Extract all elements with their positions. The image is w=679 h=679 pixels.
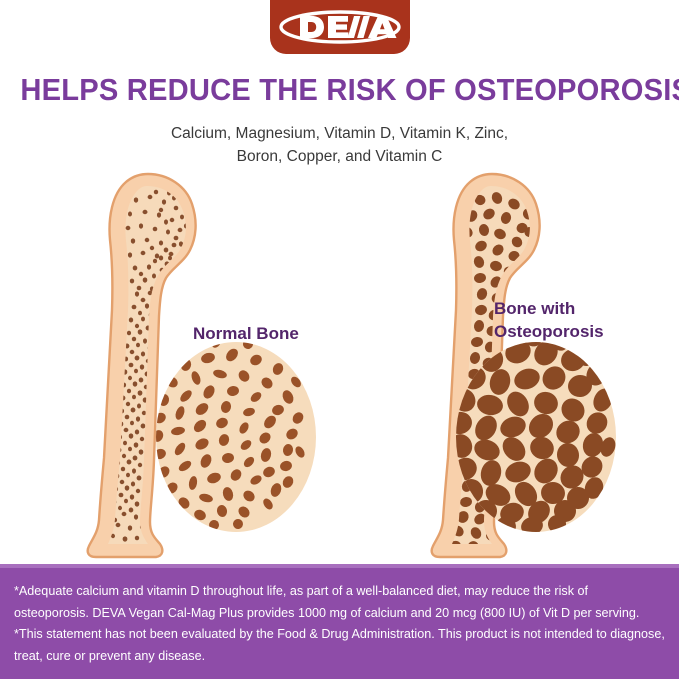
normal-bone-label: Normal Bone [193, 322, 299, 345]
disclaimer-banner: *Adequate calcium and vitamin D througho… [0, 564, 679, 679]
disclaimer-text: *Adequate calcium and vitamin D througho… [14, 581, 665, 667]
logo-badge [270, 0, 410, 54]
page-title: HELPS REDUCE THE RISK OF OSTEOPOROSIS* [20, 72, 658, 108]
bone-illustration [0, 160, 679, 560]
osteoporosis-label-line-1: Bone with [494, 299, 575, 318]
osteoporosis-bone-label: Bone with Osteoporosis [494, 297, 604, 343]
bone-comparison-svg [0, 160, 679, 560]
deva-logo-icon [278, 9, 402, 45]
normal-bone-closeup [150, 337, 316, 532]
subtitle-line-1: Calcium, Magnesium, Vitamin D, Vitamin K… [171, 125, 508, 142]
osteoporosis-label-line-2: Osteoporosis [494, 322, 604, 341]
brand-logo [0, 0, 679, 62]
infographic-page: HELPS REDUCE THE RISK OF OSTEOPOROSIS* C… [0, 0, 679, 679]
